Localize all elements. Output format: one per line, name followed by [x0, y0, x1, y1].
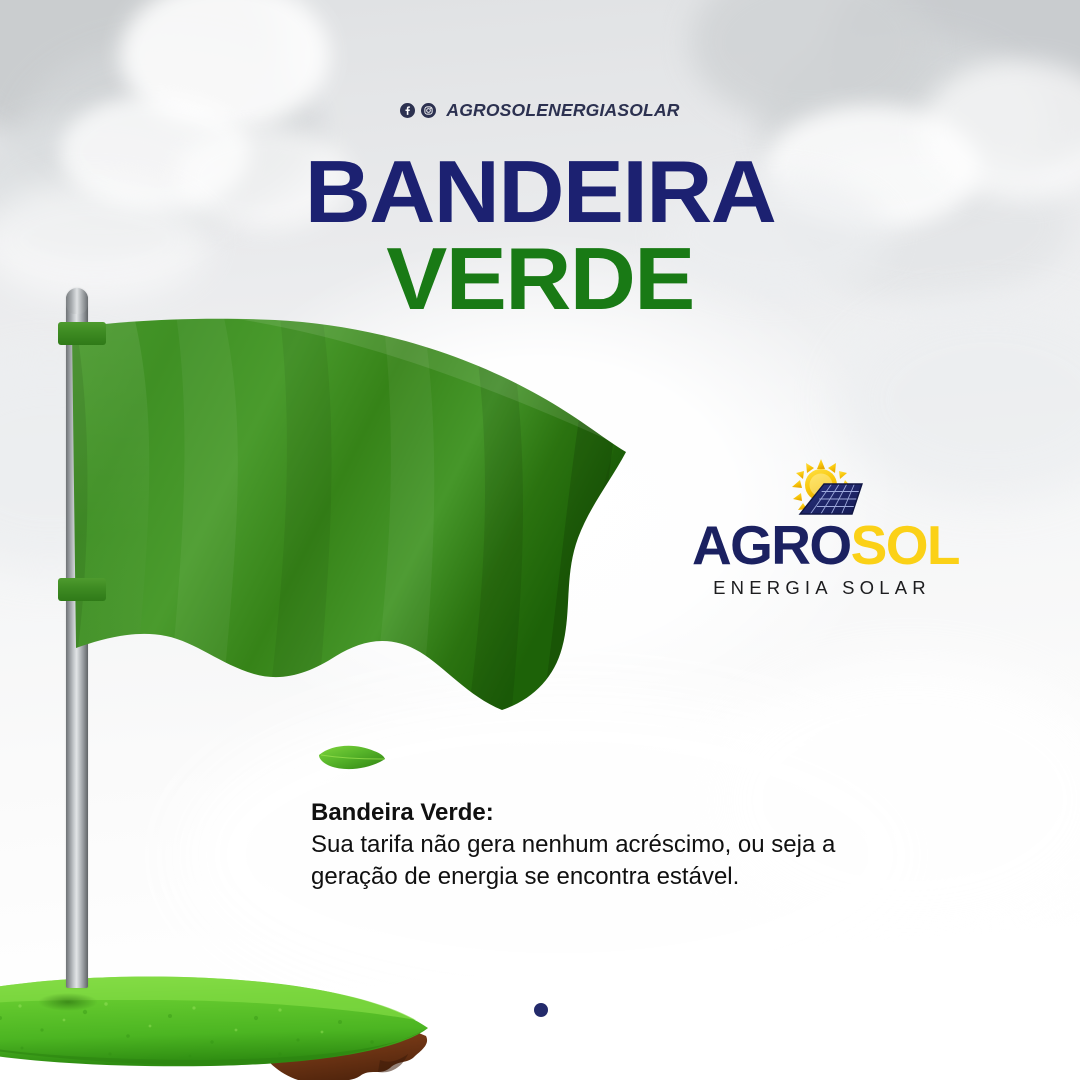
page-title: BANDEIRA VERDE	[0, 152, 1080, 320]
headline-line-1: BANDEIRA	[0, 152, 1080, 233]
floating-leaf	[316, 742, 386, 776]
description-line-2: geração de energia se encontra estável.	[311, 861, 931, 893]
description-line-1: Sua tarifa não gera nenhum acréscimo, ou…	[311, 829, 931, 861]
social-handle-bar: AGROSOLENERGIASOLAR	[0, 100, 1080, 121]
green-flag-cloth	[70, 300, 630, 730]
flag-band-bottom	[58, 578, 106, 601]
logo-word-sol: SOL	[851, 514, 959, 576]
instagram-icon[interactable]	[421, 103, 436, 118]
social-handle-text: AGROSOLENERGIASOLAR	[446, 100, 679, 121]
decorative-dot	[534, 1003, 548, 1017]
agrosol-logo: AGROSOL ENERGIA SOLAR	[692, 458, 952, 599]
logo-word-agro: AGRO	[692, 514, 851, 576]
logo-wordmark: AGROSOL	[692, 518, 952, 573]
headline-line-2: VERDE	[0, 239, 1080, 320]
social-media-poster: AGROSOLENERGIASOLAR BANDEIRA VERDE	[0, 0, 1080, 1080]
sun-solar-panel-icon	[692, 458, 952, 520]
description-text: Bandeira Verde: Sua tarifa não gera nenh…	[311, 797, 931, 893]
facebook-icon[interactable]	[400, 103, 415, 118]
flag-band-top	[58, 322, 106, 345]
description-lead: Bandeira Verde:	[311, 797, 931, 829]
logo-tagline: ENERGIA SOLAR	[692, 577, 952, 599]
